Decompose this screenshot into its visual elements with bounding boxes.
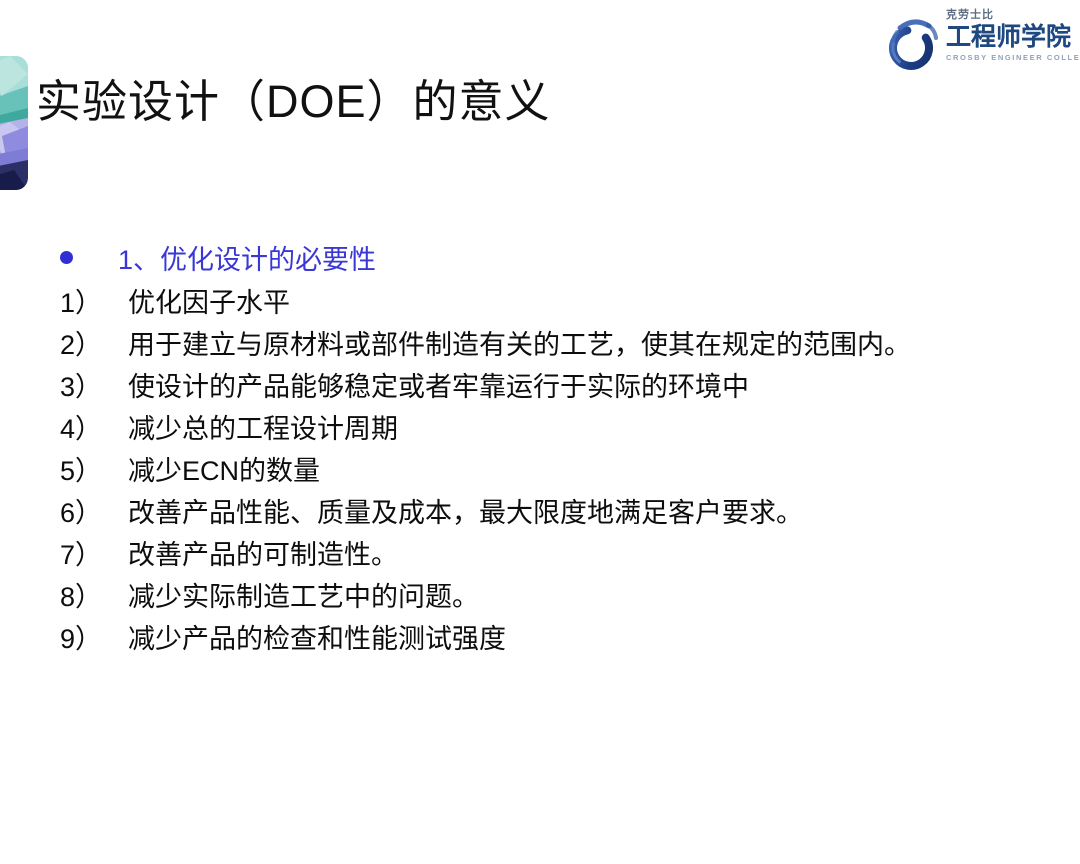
list-item: 6） 改善产品性能、质量及成本，最大限度地满足客户要求。 xyxy=(60,492,1020,534)
list-item-number: 1） xyxy=(60,282,128,324)
list-item-label: 改善产品性能、质量及成本，最大限度地满足客户要求。 xyxy=(128,492,803,534)
list-item-number: 5） xyxy=(60,450,128,492)
list-item-label: 减少实际制造工艺中的问题。 xyxy=(128,576,479,618)
list-item-number: 7） xyxy=(60,534,128,576)
list-item: 2） 用于建立与原材料或部件制造有关的工艺，使其在规定的范围内。 xyxy=(60,324,1020,366)
slide-canvas: 实验设计（DOE）的意义 克劳士比 工 xyxy=(0,0,1080,864)
list-item: 3） 使设计的产品能够稳定或者牢靠运行于实际的环境中 xyxy=(60,366,1020,408)
logo-text-block: 克劳士比 工程师学院 CROSBY ENGINEER COLLEGE xyxy=(946,8,1064,63)
list-item-label: 改善产品的可制造性。 xyxy=(128,534,398,576)
list-item-number: 8） xyxy=(60,576,128,618)
list-item: 5） 减少ECN的数量 xyxy=(60,450,1020,492)
list-item: 4） 减少总的工程设计周期 xyxy=(60,408,1020,450)
content-list: 1、优化设计的必要性 1） 优化因子水平 2） 用于建立与原材料或部件制造有关的… xyxy=(60,238,1020,660)
page-title: 实验设计（DOE）的意义 xyxy=(36,72,551,132)
list-item-label: 用于建立与原材料或部件制造有关的工艺，使其在规定的范围内。 xyxy=(128,324,911,366)
list-item: 1） 优化因子水平 xyxy=(60,282,1020,324)
list-item: 7） 改善产品的可制造性。 xyxy=(60,534,1020,576)
list-item-number: 2） xyxy=(60,324,128,366)
list-item-label: 减少产品的检查和性能测试强度 xyxy=(128,618,506,660)
list-item-label: 优化因子水平 xyxy=(128,282,290,324)
logo-small-cn-label: 克劳士比 xyxy=(946,8,1064,22)
enso-circle-brush-glyph xyxy=(880,8,946,74)
gem-gradient-bar-decoration xyxy=(0,56,28,190)
enso-circle-brush-icon xyxy=(880,8,946,74)
bullet-dot-icon xyxy=(60,251,73,264)
list-item-number: 6） xyxy=(60,492,128,534)
list-item-number: 9） xyxy=(60,618,128,660)
list-item: 9） 减少产品的检查和性能测试强度 xyxy=(60,618,1020,660)
list-item-label: 减少总的工程设计周期 xyxy=(128,408,398,450)
list-item-label: 使设计的产品能够稳定或者牢靠运行于实际的环境中 xyxy=(128,366,749,408)
list-item-number: 3） xyxy=(60,366,128,408)
list-item-label: 减少ECN的数量 xyxy=(128,450,320,492)
logo-main-cn-label: 工程师学院 xyxy=(946,22,1064,52)
lead-bullet-label: 1、优化设计的必要性 xyxy=(118,238,376,282)
gem-gradient-bar-icon xyxy=(0,56,28,190)
list-item-number: 4） xyxy=(60,408,128,450)
lead-bullet-row: 1、优化设计的必要性 xyxy=(60,238,1020,282)
brand-logo: 克劳士比 工程师学院 CROSBY ENGINEER COLLEGE xyxy=(876,6,1066,78)
logo-english-label: CROSBY ENGINEER COLLEGE xyxy=(946,52,1064,63)
list-item: 8） 减少实际制造工艺中的问题。 xyxy=(60,576,1020,618)
